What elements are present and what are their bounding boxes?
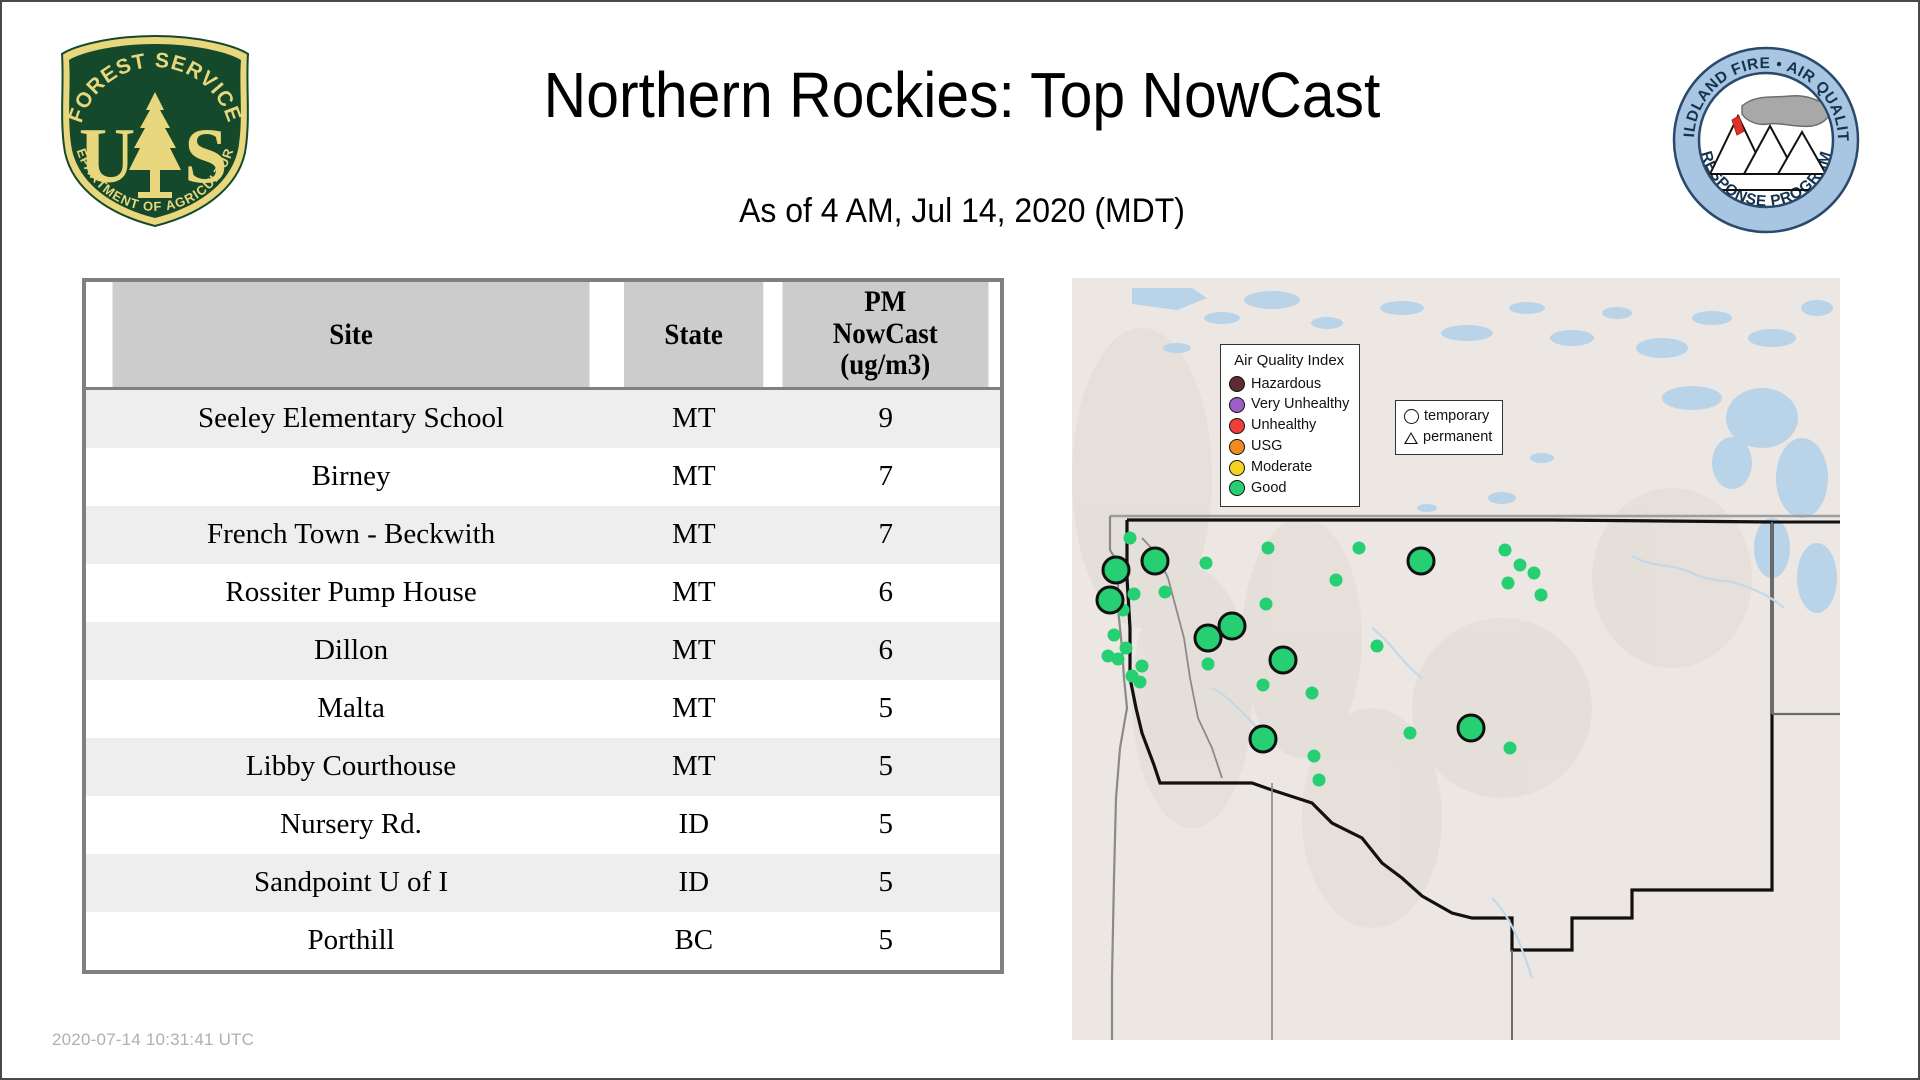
cell-pm: 6 (771, 564, 1000, 622)
legend-item-permanent: permanent (1404, 427, 1492, 448)
monitor-marker-small[interactable] (1159, 586, 1172, 599)
monitor-type-legend: temporary permanent (1395, 400, 1503, 455)
legend-item-moderate: Moderate (1229, 457, 1349, 478)
legend-label-moderate: Moderate (1251, 457, 1312, 478)
monitor-marker-small[interactable] (1202, 658, 1215, 671)
cell-state: MT (616, 506, 771, 564)
column-header-pm-line3: (ug/m3) (783, 349, 989, 381)
table-row[interactable]: Libby CourthouseMT5 (86, 738, 1000, 796)
legend-swatch-moderate (1229, 460, 1245, 476)
table-row[interactable]: French Town - BeckwithMT7 (86, 506, 1000, 564)
table-row[interactable]: PorthillBC5 (86, 912, 1000, 970)
monitor-marker-small[interactable] (1262, 542, 1275, 555)
slide-root: FOREST SERVICE DEPARTMENT OF AGRICULTURE… (2, 2, 1918, 1078)
monitor-marker-small[interactable] (1502, 577, 1515, 590)
monitor-marker-small[interactable] (1134, 676, 1147, 689)
cell-site: Dillon (86, 622, 616, 680)
cell-pm: 5 (771, 680, 1000, 738)
legend-item-hazardous: Hazardous (1229, 374, 1349, 395)
page-title: Northern Rockies: Top NowCast (355, 60, 1569, 130)
column-header-state: State (624, 282, 764, 388)
monitor-marker-small[interactable] (1330, 574, 1343, 587)
cell-site: Nursery Rd. (86, 796, 616, 854)
monitor-marker-small[interactable] (1128, 588, 1141, 601)
legend-item-temporary: temporary (1404, 406, 1492, 427)
legend-swatch-very-unhealthy (1229, 397, 1245, 413)
cell-state: ID (616, 796, 771, 854)
column-header-pm-nowcast: PM NowCast (ug/m3) (783, 282, 989, 388)
legend-item-good: Good (1229, 478, 1349, 499)
monitor-marker-small[interactable] (1353, 542, 1366, 555)
monitor-marker-small[interactable] (1504, 742, 1517, 755)
legend-label-good: Good (1251, 478, 1286, 499)
monitor-marker-small[interactable] (1404, 727, 1417, 740)
legend-label-very-unhealthy: Very Unhealthy (1251, 394, 1349, 415)
cell-state: MT (616, 448, 771, 506)
cell-pm: 6 (771, 622, 1000, 680)
legend-swatch-good (1229, 480, 1245, 496)
cell-site: Libby Courthouse (86, 738, 616, 796)
monitor-marker-small[interactable] (1120, 642, 1133, 655)
cell-pm: 5 (771, 854, 1000, 912)
monitor-marker-small[interactable] (1200, 557, 1213, 570)
page-subtitle: As of 4 AM, Jul 14, 2020 (MDT) (342, 192, 1583, 231)
monitor-marker-small[interactable] (1124, 532, 1137, 545)
air-quality-monitor-map[interactable]: Air Quality Index Hazardous Very Unhealt… (1072, 278, 1840, 1040)
monitor-marker-highlighted[interactable] (1408, 548, 1434, 574)
circle-icon (1404, 409, 1419, 424)
usda-forest-service-shield-logo: FOREST SERVICE DEPARTMENT OF AGRICULTURE… (50, 30, 260, 230)
cell-state: MT (616, 388, 771, 448)
monitor-marker-small[interactable] (1108, 629, 1121, 642)
table-row[interactable]: Rossiter Pump HouseMT6 (86, 564, 1000, 622)
cell-site: Porthill (86, 912, 616, 970)
legend-item-usg: USG (1229, 436, 1349, 457)
top-nowcast-table: Site State PM NowCast (ug/m3) Seeley Ele… (82, 278, 1004, 974)
legend-label-hazardous: Hazardous (1251, 374, 1321, 395)
triangle-icon (1404, 432, 1418, 444)
cell-site: Seeley Elementary School (86, 388, 616, 448)
table-body: Seeley Elementary SchoolMT9 BirneyMT7 Fr… (86, 388, 1000, 970)
cell-state: MT (616, 680, 771, 738)
column-header-site-label: Site (113, 319, 590, 351)
monitor-marker-highlighted[interactable] (1142, 548, 1168, 574)
monitor-marker-small[interactable] (1306, 687, 1319, 700)
legend-item-unhealthy: Unhealthy (1229, 415, 1349, 436)
cell-site: Rossiter Pump House (86, 564, 616, 622)
cell-pm: 7 (771, 506, 1000, 564)
cell-pm: 5 (771, 796, 1000, 854)
map-canvas (1072, 278, 1840, 1040)
monitor-marker-small[interactable] (1308, 750, 1321, 763)
monitor-marker-small[interactable] (1260, 598, 1273, 611)
cell-state: MT (616, 564, 771, 622)
legend-label-usg: USG (1251, 436, 1282, 457)
monitor-marker-highlighted[interactable] (1219, 613, 1245, 639)
legend-item-very-unhealthy: Very Unhealthy (1229, 394, 1349, 415)
cell-state: BC (616, 912, 771, 970)
column-header-pm-line1: PM (783, 286, 989, 318)
cell-pm: 5 (771, 912, 1000, 970)
monitor-marker-small[interactable] (1514, 559, 1527, 572)
table-row[interactable]: Seeley Elementary SchoolMT9 (86, 388, 1000, 448)
monitor-marker-highlighted[interactable] (1103, 557, 1129, 583)
monitor-marker-small[interactable] (1499, 544, 1512, 557)
svg-text:S: S (184, 112, 227, 199)
column-header-pm-line2: NowCast (783, 318, 989, 350)
cell-site: Sandpoint U of I (86, 854, 616, 912)
legend-label-unhealthy: Unhealthy (1251, 415, 1316, 436)
table-row[interactable]: DillonMT6 (86, 622, 1000, 680)
cell-pm: 5 (771, 738, 1000, 796)
monitor-marker-small[interactable] (1535, 589, 1548, 602)
column-header-site: Site (113, 282, 590, 388)
table-header-row: Site State PM NowCast (ug/m3) (86, 282, 1000, 388)
cell-site: French Town - Beckwith (86, 506, 616, 564)
monitor-marker-small[interactable] (1528, 567, 1541, 580)
monitor-marker-highlighted[interactable] (1458, 715, 1484, 741)
legend-swatch-usg (1229, 439, 1245, 455)
svg-text:U: U (79, 112, 135, 199)
table-row[interactable]: MaltaMT5 (86, 680, 1000, 738)
air-quality-index-legend: Air Quality Index Hazardous Very Unhealt… (1220, 344, 1360, 507)
monitor-marker-small[interactable] (1371, 640, 1384, 653)
monitor-marker-highlighted[interactable] (1250, 726, 1276, 752)
monitor-marker-small[interactable] (1136, 660, 1149, 673)
table-row[interactable]: Nursery Rd.ID5 (86, 796, 1000, 854)
table-row[interactable]: Sandpoint U of IID5 (86, 854, 1000, 912)
monitor-marker-small[interactable] (1257, 679, 1270, 692)
legend-swatch-hazardous (1229, 376, 1245, 392)
cell-site: Birney (86, 448, 616, 506)
monitor-marker-small[interactable] (1313, 774, 1326, 787)
cell-state: MT (616, 622, 771, 680)
cell-state: ID (616, 854, 771, 912)
cell-state: MT (616, 738, 771, 796)
cell-pm: 9 (771, 388, 1000, 448)
wildland-fire-air-quality-response-program-logo: WILDLAND FIRE • AIR QUALITY RESPONSE PRO… (1670, 44, 1862, 236)
monitor-marker-small[interactable] (1112, 653, 1125, 666)
table-row[interactable]: BirneyMT7 (86, 448, 1000, 506)
legend-title: Air Quality Index (1229, 350, 1349, 372)
column-header-state-label: State (624, 319, 764, 351)
generation-timestamp: 2020-07-14 10:31:41 UTC (52, 1030, 254, 1050)
cell-site: Malta (86, 680, 616, 738)
monitor-marker-highlighted[interactable] (1270, 647, 1296, 673)
cell-pm: 7 (771, 448, 1000, 506)
legend-swatch-unhealthy (1229, 418, 1245, 434)
monitor-marker-highlighted[interactable] (1097, 587, 1123, 613)
legend-label-temporary: temporary (1424, 406, 1489, 427)
legend-label-permanent: permanent (1423, 427, 1492, 448)
monitor-marker-highlighted[interactable] (1195, 625, 1221, 651)
